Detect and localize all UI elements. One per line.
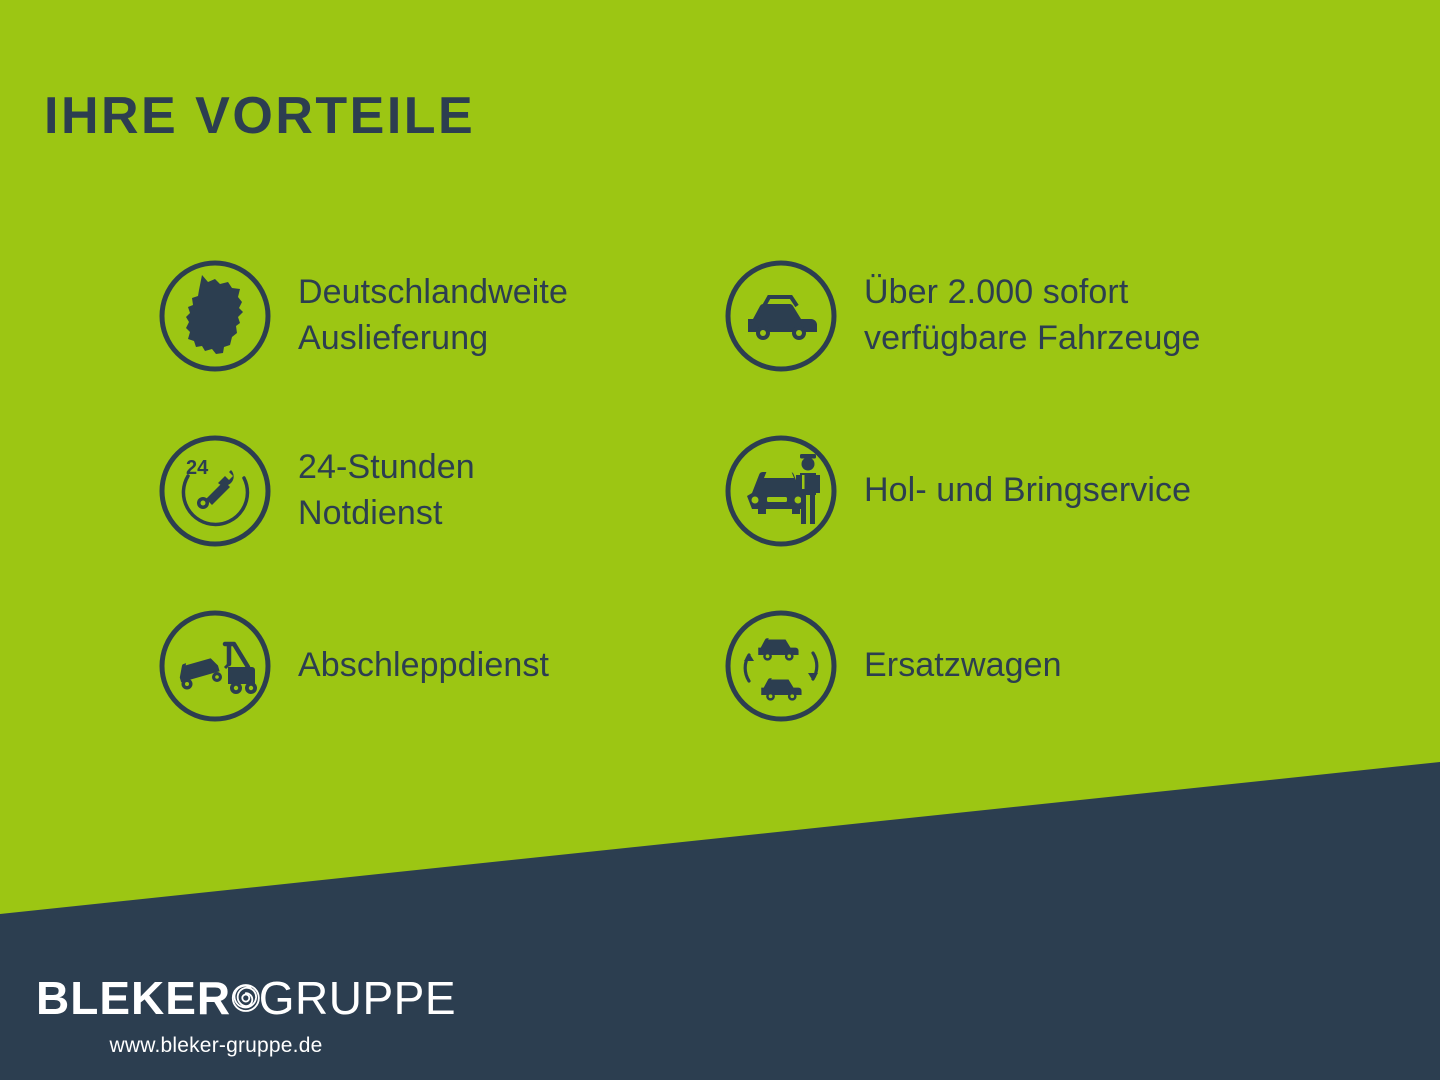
- benefit-label-line1: Abschleppdienst: [298, 646, 549, 684]
- benefit-item-24-stunden-notdienst: 24 24-Stunden Notdienst: [158, 403, 718, 578]
- logo-wordmark-row: BLEKER GRUPPE: [36, 968, 456, 1028]
- benefits-grid: Deutschlandweite Auslieferung Über 2.000…: [158, 228, 1338, 753]
- spiral-logo-icon: [229, 967, 263, 1029]
- benefit-label-line2: Notdienst: [298, 491, 475, 536]
- germany-map-icon: [158, 259, 272, 373]
- benefit-label-line1: 24-Stunden: [298, 448, 475, 486]
- car-exchange-icon: [724, 609, 838, 723]
- benefit-item-abschleppdienst: Abschleppdienst: [158, 578, 718, 753]
- slide-root: IHRE VORTEILE Deutschlandweite Ausliefer…: [0, 0, 1440, 1080]
- benefit-label: Deutschlandweite Auslieferung: [298, 270, 568, 360]
- car-with-driver-icon: [724, 434, 838, 548]
- benefit-label-line1: Über 2.000 sofort: [864, 273, 1128, 311]
- benefit-label: Über 2.000 sofort verfügbare Fahrzeuge: [864, 270, 1201, 360]
- benefit-item-hol-und-bringservice: Hol- und Bringservice: [724, 403, 1284, 578]
- benefit-label-line1: Deutschlandweite: [298, 273, 568, 311]
- benefit-label: Ersatzwagen: [864, 643, 1062, 688]
- svg-text:24: 24: [186, 457, 209, 479]
- page-title: IHRE VORTEILE: [44, 86, 475, 146]
- website-url[interactable]: www.bleker-gruppe.de: [36, 1034, 396, 1058]
- benefit-label-line1: Hol- und Bringservice: [864, 471, 1191, 509]
- benefit-label-line2: verfügbare Fahrzeuge: [864, 316, 1201, 361]
- benefit-item-verfuegbare-fahrzeuge: Über 2.000 sofort verfügbare Fahrzeuge: [724, 228, 1284, 403]
- benefit-label: 24-Stunden Notdienst: [298, 445, 475, 535]
- clock-24h-wrench-icon: 24: [158, 434, 272, 548]
- logo-bleker-text: BLEKER: [36, 975, 231, 1021]
- tow-truck-icon: [158, 609, 272, 723]
- benefit-label: Hol- und Bringservice: [864, 468, 1191, 513]
- car-side-icon: [724, 259, 838, 373]
- logo-gruppe-text: GRUPPE: [259, 975, 456, 1021]
- benefit-label-line2: Auslieferung: [298, 316, 568, 361]
- benefit-item-ersatzwagen: Ersatzwagen: [724, 578, 1284, 753]
- benefit-item-deutschlandweite-auslieferung: Deutschlandweite Auslieferung: [158, 228, 718, 403]
- benefit-label-line1: Ersatzwagen: [864, 646, 1062, 684]
- benefit-label: Abschleppdienst: [298, 643, 549, 688]
- footer-logo: BLEKER GRUPPE www.bleker-gruppe.de: [36, 968, 456, 1068]
